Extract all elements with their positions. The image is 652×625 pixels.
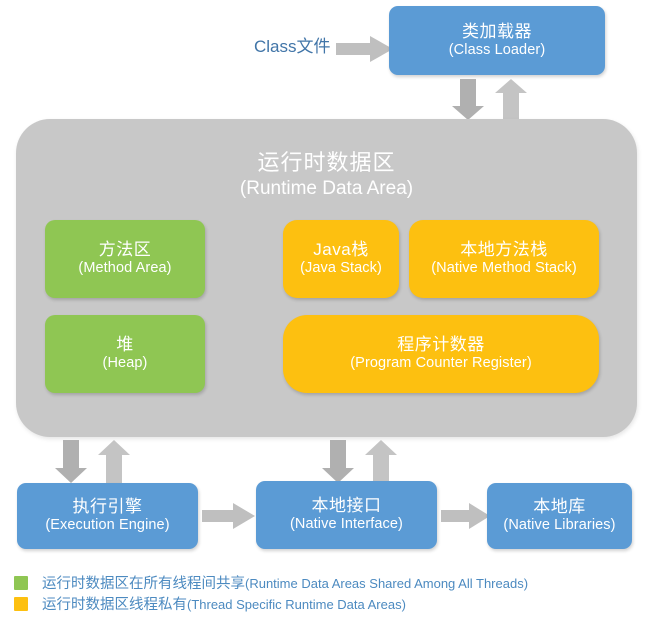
arrow-execution-engine-up-to-runtime — [97, 440, 131, 484]
box-class-loader[interactable]: 类加载器 (Class Loader) — [389, 6, 605, 75]
legend-text-private-cn: 运行时数据区线程私有 — [42, 597, 187, 613]
box-java-stack-cn: Java栈 — [313, 240, 368, 260]
box-program-counter-register-cn: 程序计数器 — [397, 335, 485, 355]
box-heap[interactable]: 堆 (Heap) — [45, 315, 205, 393]
box-native-method-stack-en: (Native Method Stack) — [431, 260, 577, 277]
box-native-libraries[interactable]: 本地库 (Native Libraries) — [487, 483, 632, 549]
arrow-execution-engine-to-native-interface — [202, 503, 256, 529]
arrow-runtime-down-to-native-interface — [321, 440, 355, 484]
runtime-data-area-title-en: (Runtime Data Area) — [16, 178, 637, 200]
box-java-stack[interactable]: Java栈 (Java Stack) — [283, 220, 399, 298]
box-java-stack-en: (Java Stack) — [300, 260, 382, 277]
box-execution-engine-cn: 执行引擎 — [73, 497, 143, 517]
box-heap-en: (Heap) — [103, 355, 148, 372]
box-method-area[interactable]: 方法区 (Method Area) — [45, 220, 205, 298]
arrow-classfile-to-classloader — [336, 36, 394, 62]
arrow-native-interface-up-to-runtime — [364, 440, 398, 484]
legend-swatch-green — [14, 576, 28, 590]
box-method-area-cn: 方法区 — [99, 240, 152, 260]
box-method-area-en: (Method Area) — [78, 260, 171, 277]
box-class-loader-cn: 类加载器 — [462, 22, 532, 42]
box-native-libraries-cn: 本地库 — [533, 497, 586, 517]
box-execution-engine-en: (Execution Engine) — [45, 517, 169, 534]
legend-swatch-amber — [14, 597, 28, 611]
legend-text-shared-en: (Runtime Data Areas Shared Among All Thr… — [245, 576, 528, 591]
runtime-data-area-container: 运行时数据区 (Runtime Data Area) 方法区 (Method A… — [16, 119, 637, 437]
runtime-data-area-title: 运行时数据区 (Runtime Data Area) — [16, 145, 637, 200]
runtime-data-area-title-cn: 运行时数据区 — [16, 145, 637, 177]
box-program-counter-register-en: (Program Counter Register) — [350, 355, 532, 372]
box-native-interface-cn: 本地接口 — [312, 496, 382, 516]
legend-text-private: 运行时数据区线程私有(Thread Specific Runtime Data … — [42, 593, 406, 614]
legend: 运行时数据区在所有线程间共享(Runtime Data Areas Shared… — [14, 572, 644, 614]
box-native-interface-en: (Native Interface) — [290, 516, 403, 533]
legend-item-shared: 运行时数据区在所有线程间共享(Runtime Data Areas Shared… — [14, 572, 644, 593]
legend-text-shared: 运行时数据区在所有线程间共享(Runtime Data Areas Shared… — [42, 572, 528, 593]
box-execution-engine[interactable]: 执行引擎 (Execution Engine) — [17, 483, 198, 549]
arrow-runtime-up-to-classloader — [494, 79, 528, 121]
box-native-libraries-en: (Native Libraries) — [503, 517, 615, 534]
box-native-interface[interactable]: 本地接口 (Native Interface) — [256, 481, 437, 549]
box-native-method-stack[interactable]: 本地方法栈 (Native Method Stack) — [409, 220, 599, 298]
box-program-counter-register[interactable]: 程序计数器 (Program Counter Register) — [283, 315, 599, 393]
arrow-classloader-down-to-runtime — [451, 79, 485, 121]
box-class-loader-en: (Class Loader) — [449, 42, 546, 59]
legend-text-private-en: (Thread Specific Runtime Data Areas) — [187, 597, 406, 612]
box-native-method-stack-cn: 本地方法栈 — [460, 240, 548, 260]
class-file-label: Class文件 — [254, 32, 331, 57]
arrow-native-interface-to-native-libraries — [441, 503, 491, 529]
legend-item-private: 运行时数据区线程私有(Thread Specific Runtime Data … — [14, 593, 644, 614]
arrow-runtime-down-to-execution-engine — [54, 440, 88, 484]
legend-text-shared-cn: 运行时数据区在所有线程间共享 — [42, 576, 245, 592]
box-heap-cn: 堆 — [116, 335, 134, 355]
jvm-architecture-diagram: Class文件 类加载器 (Class Loader) 运行时数据区 (Runt… — [0, 0, 652, 625]
